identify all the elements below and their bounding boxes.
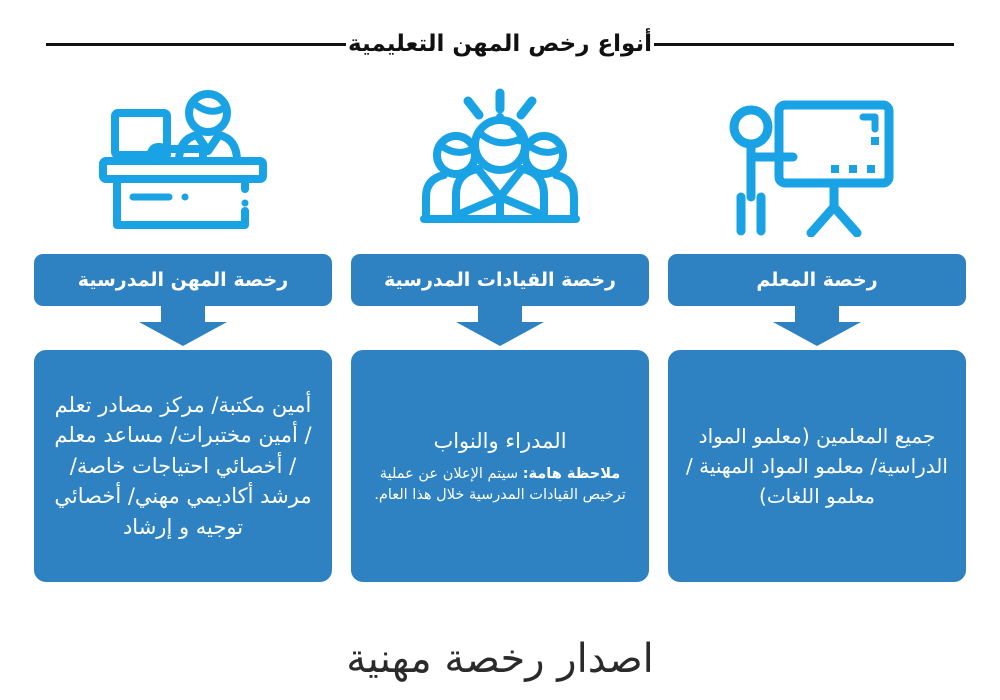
license-note-label: ملاحظة هامة: (523, 466, 620, 482)
down-arrow-icon (668, 306, 966, 346)
license-banner[interactable]: رخصة المعلم (668, 254, 966, 306)
license-banner-label: رخصة المهن المدرسية (78, 271, 288, 290)
license-important-note: ملاحظة هامة: سيتم الإعلان عن عملية ترخيص… (367, 464, 633, 506)
license-detail-card: جميع المعلمين (معلمو المواد الدراسية/ مع… (668, 350, 966, 582)
title-rule-right (46, 43, 346, 46)
people-group-icon (351, 78, 649, 246)
teacher-whiteboard-icon (668, 78, 966, 246)
page-title: أنواع رخص المهن التعليمية (346, 33, 654, 56)
page-header: أنواع رخص المهن التعليمية (0, 22, 1000, 66)
down-arrow-icon (34, 306, 332, 346)
title-rule-left (654, 43, 954, 46)
footer-caption: اصدار رخصة مهنية (0, 636, 1000, 682)
down-arrow-icon (351, 306, 649, 346)
license-detail-card: المدراء والنواب ملاحظة هامة: سيتم الإعلا… (351, 350, 649, 582)
license-banner-label: رخصة القيادات المدرسية (384, 271, 616, 290)
license-banner[interactable]: رخصة القيادات المدرسية (351, 254, 649, 306)
license-column-school-leadership: رخصة القيادات المدرسية المدراء والنواب م… (351, 78, 649, 590)
license-detail-text: المدراء والنواب (367, 426, 633, 456)
license-detail-card: أمين مكتبة/ مركز مصادر تعلم / أمين مختبر… (34, 350, 332, 582)
license-columns: رخصة المهن المدرسية أمين مكتبة/ مركز مصا… (0, 78, 1000, 590)
license-column-teacher: رخصة المعلم جميع المعلمين (معلمو المواد … (668, 78, 966, 590)
license-detail-text: أمين مكتبة/ مركز مصادر تعلم / أمين مختبر… (50, 390, 316, 542)
license-banner-label: رخصة المعلم (756, 271, 877, 290)
license-column-school-professions: رخصة المهن المدرسية أمين مكتبة/ مركز مصا… (34, 78, 332, 590)
license-banner[interactable]: رخصة المهن المدرسية (34, 254, 332, 306)
banner-block-teacher: رخصة المعلم (668, 254, 966, 346)
banner-block-school-leadership: رخصة القيادات المدرسية (351, 254, 649, 346)
help-desk-icon (34, 78, 332, 246)
banner-block-school-professions: رخصة المهن المدرسية (34, 254, 332, 346)
license-detail-text: جميع المعلمين (معلمو المواد الدراسية/ مع… (684, 421, 950, 511)
